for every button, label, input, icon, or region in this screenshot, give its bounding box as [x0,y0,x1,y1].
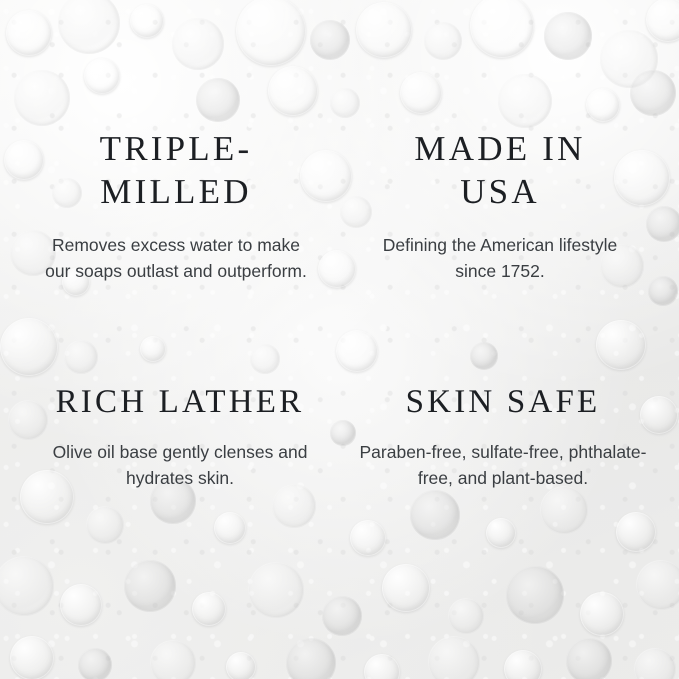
feature-body-skin-safe: Paraben-free, sulfate-free, phthalate-fr… [348,440,658,491]
feature-body-rich-lather: Olive oil base gently clenses and hydrat… [20,440,340,491]
feature-made-in-usa: MADE INUSA Defining the American lifesty… [350,128,650,284]
feature-title-triple-milled: TRIPLE-MILLED [26,128,326,213]
feature-body-made-in-usa: Defining the American lifestyle since 17… [350,233,650,284]
feature-triple-milled: TRIPLE-MILLED Removes excess water to ma… [26,128,326,284]
feature-grid-image: TRIPLE-MILLED Removes excess water to ma… [0,0,679,679]
feature-skin-safe: SKIN SAFE Paraben-free, sulfate-free, ph… [348,382,658,491]
feature-body-triple-milled: Removes excess water to make our soaps o… [26,233,326,284]
feature-rich-lather: RICH LATHER Olive oil base gently clense… [20,382,340,491]
feature-title-rich-lather: RICH LATHER [20,382,340,422]
feature-title-skin-safe: SKIN SAFE [348,382,658,422]
feature-title-made-in-usa: MADE INUSA [350,128,650,213]
